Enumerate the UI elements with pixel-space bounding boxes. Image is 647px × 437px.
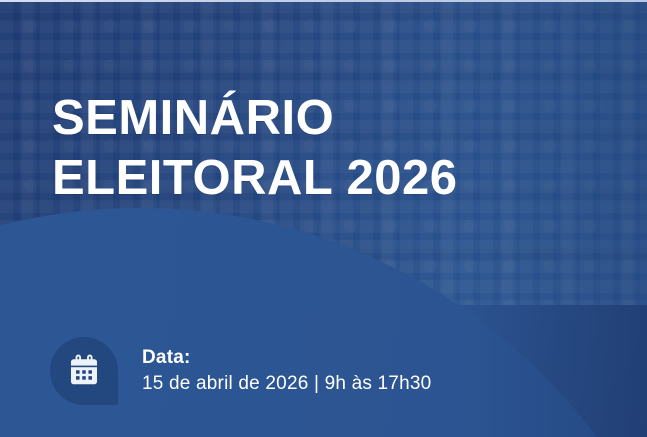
event-date-label: Data: [142,346,431,370]
top-divider [0,0,647,2]
title-line-2: ELEITORAL 2026 [52,148,458,208]
event-date-row: Data: 15 de abril de 2026 | 9h às 17h30 [50,337,431,405]
title-line-1: SEMINÁRIO [52,88,458,148]
calendar-icon [67,354,101,388]
event-date-value: 15 de abril de 2026 | 9h às 17h30 [142,370,431,397]
event-banner: SEMINÁRIO ELEITORAL 2026 [0,0,647,437]
calendar-icon-badge [50,337,118,405]
banner-title: SEMINÁRIO ELEITORAL 2026 [52,88,458,208]
event-date-text: Data: 15 de abril de 2026 | 9h às 17h30 [142,346,431,397]
